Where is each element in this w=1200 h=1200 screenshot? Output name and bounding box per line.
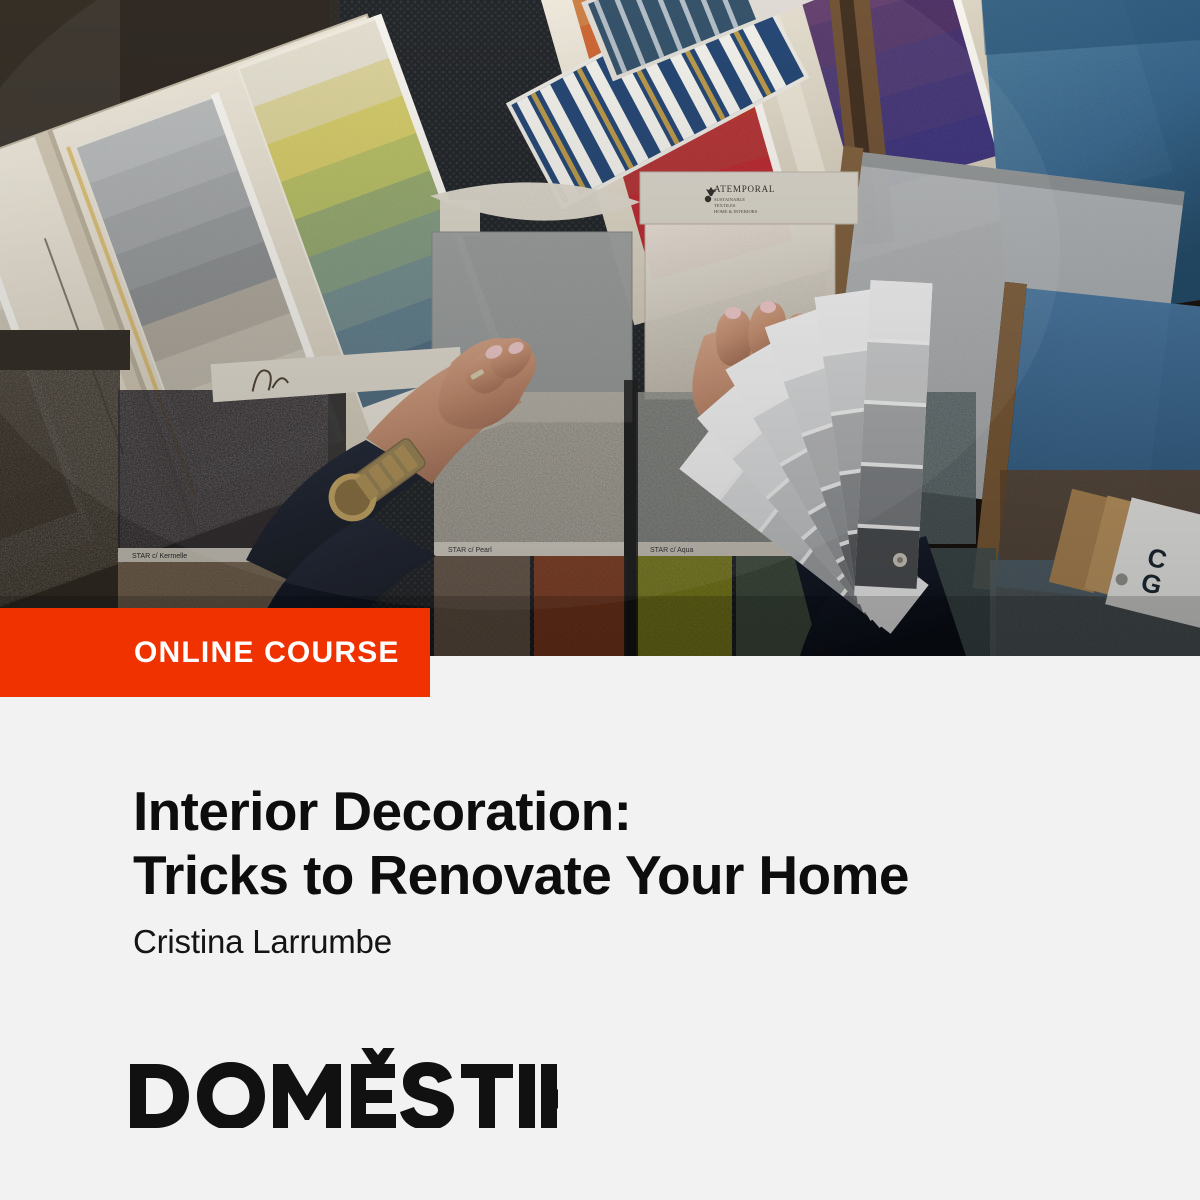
- course-text-block: Interior Decoration: Tricks to Renovate …: [133, 780, 1133, 961]
- course-card: ATEMPORAL SUSTAINABLE TEXTILES HOME & IN…: [0, 0, 1200, 1200]
- course-author: Cristina Larrumbe: [133, 922, 1133, 962]
- online-course-badge: ONLINE COURSE: [0, 608, 430, 697]
- course-title-line-2: Tricks to Renovate Your Home: [133, 844, 1133, 908]
- badge-label: ONLINE COURSE: [134, 638, 400, 668]
- course-title-line-1: Interior Decoration:: [133, 780, 1133, 844]
- course-hero-photo: ATEMPORAL SUSTAINABLE TEXTILES HOME & IN…: [0, 0, 1200, 656]
- domestika-logo: [128, 1048, 558, 1128]
